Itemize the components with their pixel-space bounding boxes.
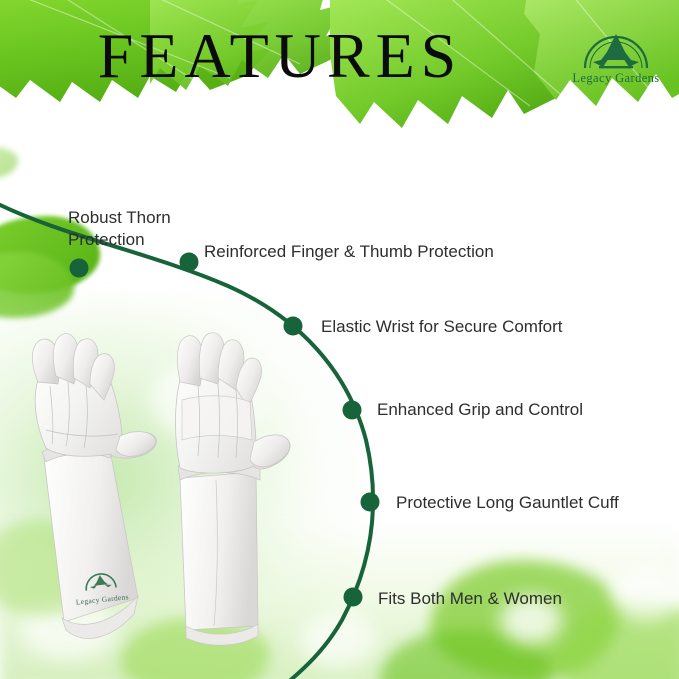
brand-logo-text: Legacy Gardens	[566, 71, 666, 86]
arc-path	[0, 200, 373, 679]
feature-infographic-page: Legacy Gardens FEATURES Legacy Gardens R…	[0, 0, 679, 679]
arc-dot-3[interactable]	[284, 317, 303, 336]
arc-dot-2[interactable]	[180, 253, 199, 272]
feature-label-enhanced-grip: Enhanced Grip and Control	[377, 399, 583, 421]
feature-label-elastic-wrist: Elastic Wrist for Secure Comfort	[321, 316, 563, 338]
arc-dot-1[interactable]	[70, 259, 89, 278]
arc-dot-6[interactable]	[344, 588, 363, 607]
arc-dot-4[interactable]	[343, 401, 362, 420]
brand-logo: Legacy Gardens	[566, 26, 666, 86]
feature-label-robust-thorn-protection: Robust Thorn Protection	[68, 207, 171, 251]
feature-label-gauntlet-cuff: Protective Long Gauntlet Cuff	[396, 492, 619, 514]
page-title: FEATURES	[0, 24, 560, 88]
feature-label-reinforced-finger-thumb: Reinforced Finger & Thumb Protection	[204, 241, 494, 263]
arc-dots	[70, 253, 380, 607]
feature-label-fits-men-women: Fits Both Men & Women	[378, 588, 562, 610]
arch-leaf-icon	[581, 26, 651, 70]
arc-dot-5[interactable]	[361, 493, 380, 512]
feature-arc-connector	[0, 0, 679, 679]
